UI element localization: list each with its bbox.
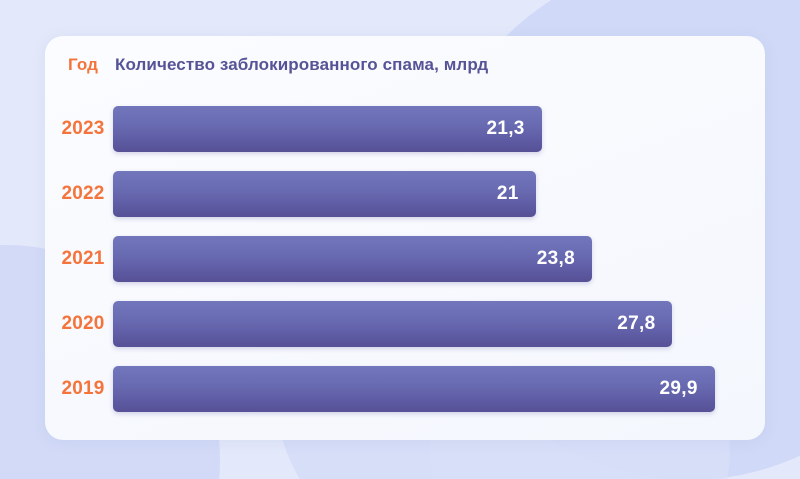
- chart-header-row: Год Количество заблокированного спама, м…: [45, 52, 765, 88]
- row-year-label: 2021: [53, 248, 113, 270]
- row-year-label: 2019: [53, 378, 113, 400]
- bar-track: 21: [113, 171, 757, 217]
- chart-canvas: Год Количество заблокированного спама, м…: [0, 0, 800, 479]
- bar: 27,8: [113, 301, 672, 347]
- bar-value-label: 29,9: [660, 378, 698, 400]
- bar: 21,3: [113, 106, 542, 152]
- bar-track: 23,8: [113, 236, 757, 282]
- bar-track: 29,9: [113, 366, 757, 412]
- chart-card: Год Количество заблокированного спама, м…: [45, 36, 765, 440]
- column-header-year: Год: [53, 52, 113, 78]
- chart-row: 202221: [45, 161, 765, 226]
- bar: 23,8: [113, 236, 592, 282]
- bar-value-label: 27,8: [617, 313, 655, 335]
- chart-row: 202027,8: [45, 291, 765, 356]
- bar-value-label: 23,8: [537, 248, 575, 270]
- row-year-label: 2020: [53, 313, 113, 335]
- row-year-label: 2022: [53, 183, 113, 205]
- bar-value-label: 21: [497, 183, 519, 205]
- bar-track: 27,8: [113, 301, 757, 347]
- bar-track: 21,3: [113, 106, 757, 152]
- bar-value-label: 21,3: [486, 118, 524, 140]
- chart-rows: 202321,3202221202123,8202027,8201929,9: [45, 96, 765, 421]
- column-header-metric: Количество заблокированного спама, млрд: [115, 52, 488, 78]
- chart-row: 202321,3: [45, 96, 765, 161]
- chart-row: 201929,9: [45, 356, 765, 421]
- bar: 29,9: [113, 366, 715, 412]
- row-year-label: 2023: [53, 118, 113, 140]
- bar: 21: [113, 171, 536, 217]
- chart-row: 202123,8: [45, 226, 765, 291]
